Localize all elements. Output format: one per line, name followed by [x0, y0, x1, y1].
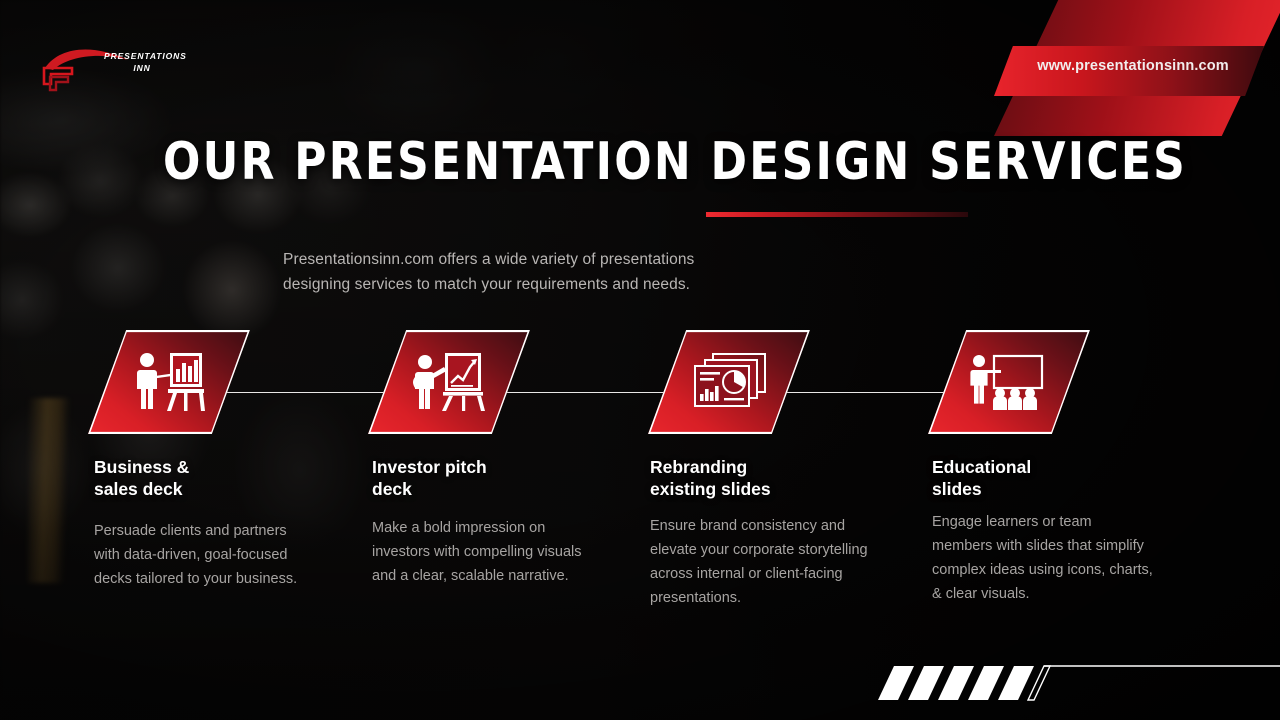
stacked-slides-pie-chart-icon — [648, 330, 810, 434]
logo-wordmark: PRESENTATIONS INN — [104, 50, 180, 74]
card-icon-shape — [368, 330, 530, 434]
page-subtitle: Presentationsinn.com offers a wide varie… — [283, 247, 753, 297]
card-title: Investor pitchdeck — [372, 456, 602, 500]
page-title: OUR PRESENTATION DESIGN SERVICES — [163, 133, 1187, 191]
card-body: Engage learners or team members with sli… — [932, 510, 1154, 606]
website-url-text: www.presentationsinn.com — [1008, 58, 1258, 74]
card-body: Ensure brand consistency and elevate you… — [650, 514, 872, 610]
services-row: Business &sales deck Persuade clients an… — [0, 330, 1280, 670]
presenter-line-chart-easel-icon — [368, 330, 530, 434]
card-icon-shape — [648, 330, 810, 434]
logo-line-1: PRESENTATIONS — [104, 50, 180, 62]
service-card-business-sales-deck[interactable]: Business &sales deck Persuade clients an… — [88, 330, 388, 591]
card-body: Make a bold impression on investors with… — [372, 516, 594, 588]
presentation-slide: PRESENTATIONS INN www.presentationsinn.c… — [0, 0, 1280, 720]
service-card-rebranding-existing-slides[interactable]: Rebrandingexisting slides Ensure brand c… — [648, 330, 948, 610]
card-title: Educationalslides — [932, 456, 1162, 500]
service-card-investor-pitch-deck[interactable]: Investor pitchdeck Make a bold impressio… — [368, 330, 668, 588]
card-icon-shape — [88, 330, 250, 434]
card-icon-shape — [928, 330, 1090, 434]
title-accent-rule — [706, 212, 968, 217]
diagonal-stripes-decoration — [860, 662, 1280, 704]
website-banner[interactable]: www.presentationsinn.com — [950, 0, 1280, 140]
service-card-educational-slides[interactable]: Educationalslides Engage learners or tea… — [928, 330, 1228, 606]
logo-line-2: INN — [104, 62, 180, 74]
presenter-bar-chart-easel-icon — [88, 330, 250, 434]
card-title: Business &sales deck — [94, 456, 324, 500]
card-body: Persuade clients and partners with data-… — [94, 519, 316, 591]
brand-logo[interactable]: PRESENTATIONS INN — [28, 38, 178, 96]
card-title: Rebrandingexisting slides — [650, 456, 880, 500]
teacher-whiteboard-audience-icon — [928, 330, 1090, 434]
